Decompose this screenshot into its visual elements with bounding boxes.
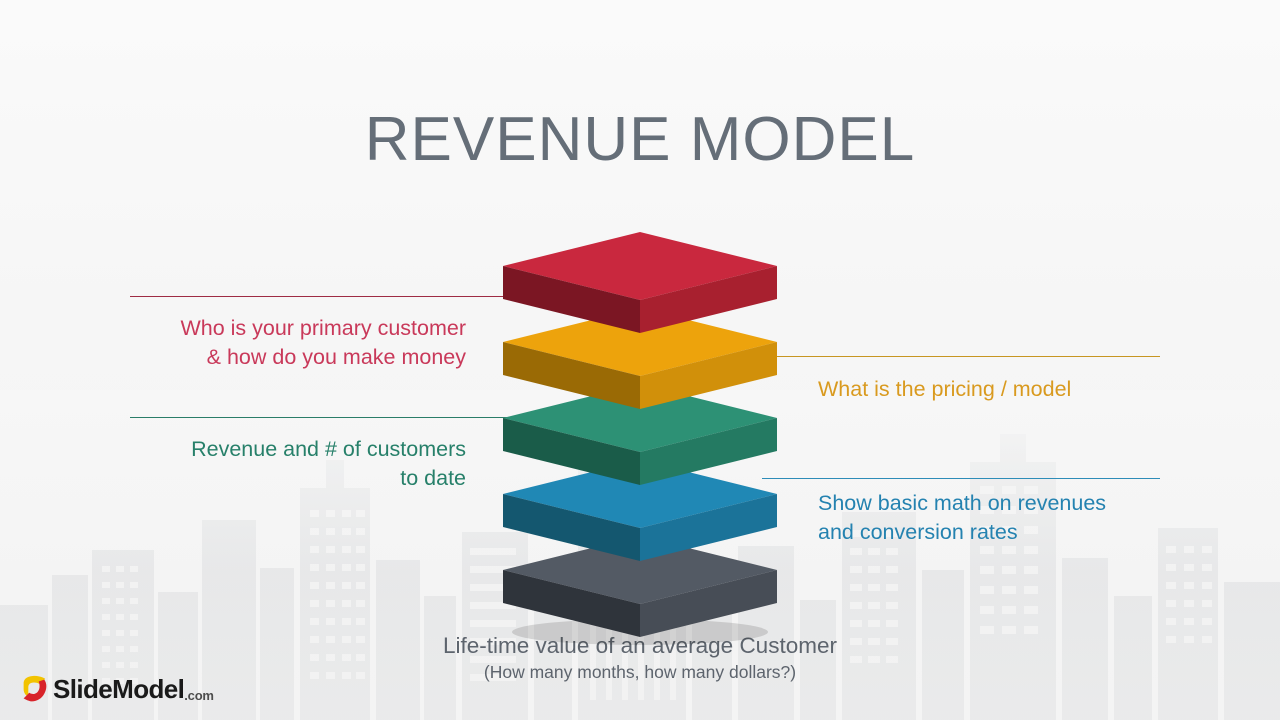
connector-line-red — [130, 296, 518, 297]
connector-line-blue — [762, 478, 1160, 479]
logo-tld: .com — [184, 688, 214, 706]
callout-blue-line1: Show basic math on revenues — [818, 489, 1178, 518]
callout-orange: What is the pricing / model — [818, 375, 1178, 404]
callout-red: Who is your primary customer & how do yo… — [118, 314, 466, 372]
slidemodel-swirl-icon — [18, 674, 48, 704]
callout-blue-line2: and conversion rates — [818, 518, 1178, 547]
callout-green: Revenue and # of customers to date — [118, 435, 466, 493]
callout-red-line2: & how do you make money — [118, 343, 466, 372]
logo-wordmark: SlideModel — [53, 674, 184, 705]
slide-canvas: REVENUE MODEL — [0, 0, 1280, 720]
page-title: REVENUE MODEL — [0, 104, 1280, 175]
callout-green-line2: to date — [118, 464, 466, 493]
connector-line-orange — [762, 356, 1160, 357]
callout-green-line1: Revenue and # of customers — [118, 435, 466, 464]
connector-line-green — [130, 417, 518, 418]
callout-red-line1: Who is your primary customer — [118, 314, 466, 343]
slidemodel-logo[interactable]: SlideModel .com — [18, 672, 214, 706]
stack-layer-red[interactable] — [503, 232, 777, 334]
layer-stack-diagram — [503, 232, 777, 612]
callout-orange-line1: What is the pricing / model — [818, 375, 1178, 404]
callout-blue: Show basic math on revenues and conversi… — [818, 489, 1178, 547]
